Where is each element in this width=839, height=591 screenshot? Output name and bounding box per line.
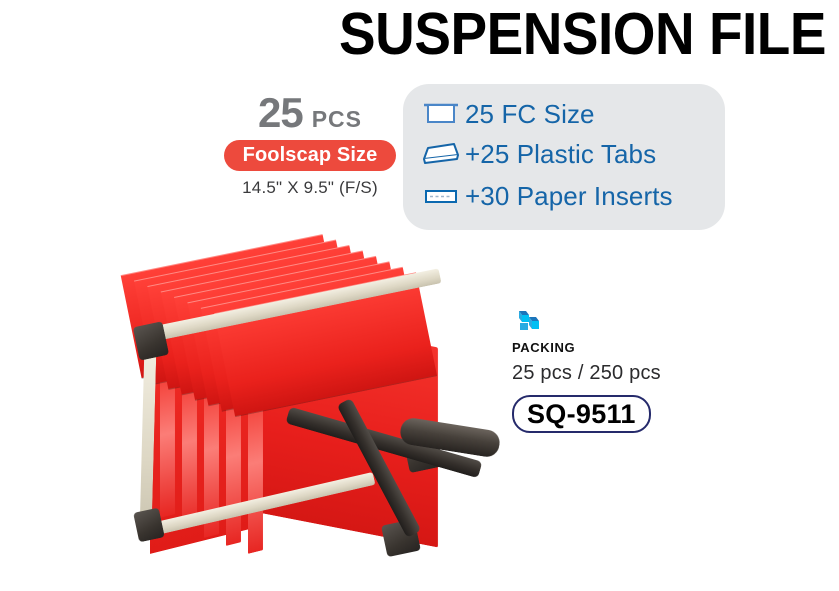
packing-label: PACKING (512, 340, 712, 355)
feature-row-fc-size: 25 FC Size (419, 96, 595, 132)
packing-block: PACKING 25 pcs / 250 pcs SQ-9511 (512, 305, 712, 433)
feature-label: +25 Plastic Tabs (465, 139, 656, 170)
hanging-file-icon (419, 98, 463, 130)
paper-insert-icon (419, 180, 463, 212)
feature-row-plastic-tabs: +25 Plastic Tabs (419, 136, 656, 172)
page-title: SUSPENSION FILE (59, 2, 839, 66)
spec-block: 25 PCS Foolscap Size 14.5" X 9.5" (F/S) (224, 92, 396, 198)
quantity-value: 25 (258, 92, 303, 134)
features-panel: 25 FC Size +25 Plastic Tabs +30 Paper In… (403, 84, 725, 230)
quantity-line: 25 PCS (224, 92, 396, 138)
sku-badge: SQ-9511 (512, 395, 651, 433)
feature-label: 25 FC Size (465, 99, 595, 130)
dimensions-text: 14.5" X 9.5" (F/S) (224, 178, 396, 198)
feature-label: +30 Paper Inserts (465, 181, 673, 212)
product-image (108, 238, 478, 558)
plastic-tab-icon (419, 138, 463, 170)
product-banner: SUSPENSION FILE 25 PCS Foolscap Size 14.… (0, 0, 839, 591)
product-render (108, 238, 478, 558)
size-badge: Foolscap Size (224, 140, 396, 171)
quantity-unit: PCS (312, 108, 362, 131)
packing-quantity: 25 pcs / 250 pcs (512, 362, 712, 385)
feature-row-paper-inserts: +30 Paper Inserts (419, 178, 673, 214)
packing-boxes-icon (512, 305, 546, 337)
